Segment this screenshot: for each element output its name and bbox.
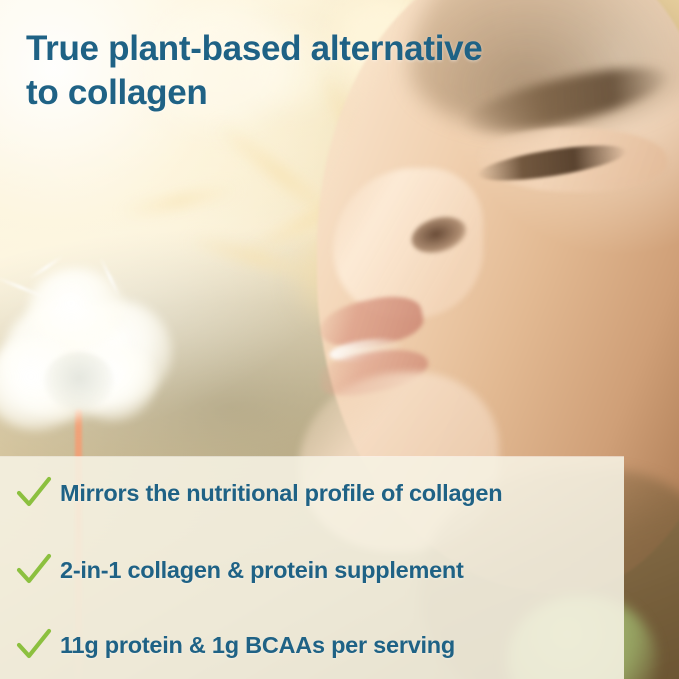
benefits-panel: Mirrors the nutritional profile of colla… bbox=[0, 457, 624, 679]
check-icon bbox=[14, 473, 54, 513]
benefit-label: 11g protein & 1g BCAAs per serving bbox=[60, 632, 455, 659]
benefit-label: Mirrors the nutritional profile of colla… bbox=[60, 480, 502, 507]
check-icon bbox=[14, 625, 54, 665]
benefit-item: 2-in-1 collagen & protein supplement bbox=[14, 548, 464, 592]
benefit-item: Mirrors the nutritional profile of colla… bbox=[14, 471, 502, 515]
dandelion-seed-core bbox=[44, 352, 114, 410]
product-benefit-banner: True plant-based alternative to collagen… bbox=[0, 0, 679, 679]
page-title: True plant-based alternative to collagen bbox=[26, 27, 566, 116]
benefit-label: 2-in-1 collagen & protein supplement bbox=[60, 557, 464, 584]
check-icon bbox=[14, 550, 54, 590]
benefit-item: 11g protein & 1g BCAAs per serving bbox=[14, 623, 455, 667]
